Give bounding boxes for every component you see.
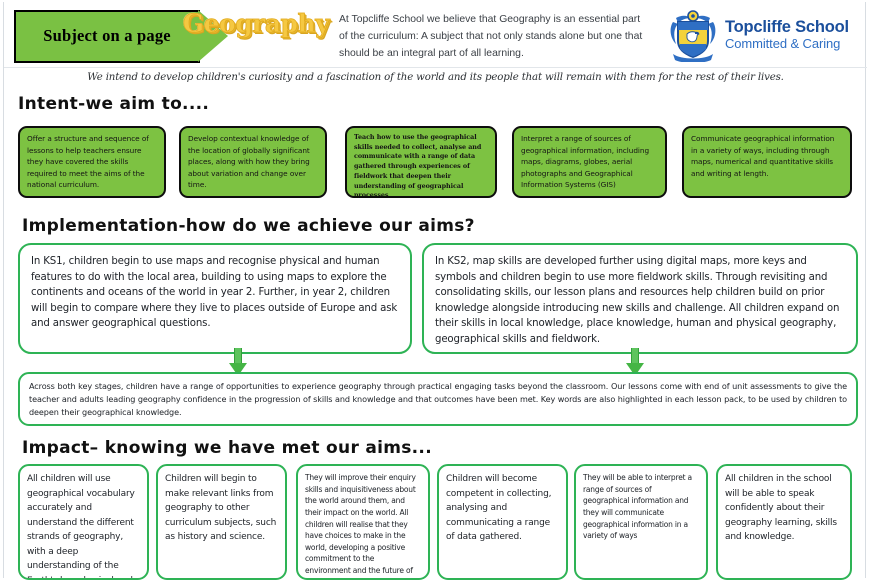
- impact-box-text: All children will use geographical vocab…: [27, 472, 140, 580]
- impact-box: Children will become competent in collec…: [437, 464, 568, 580]
- intent-box: Teach how to use the geographical skills…: [345, 126, 497, 198]
- arrow-stem: [631, 348, 639, 364]
- intent-box: Develop contextual knowledge of the loca…: [179, 126, 327, 198]
- intent-box-row: Offer a structure and sequence of lesson…: [4, 126, 867, 200]
- intent-section-heading: Intent-we aim to....: [18, 94, 209, 114]
- subject-on-a-page-banner: Subject on a page: [14, 10, 200, 63]
- intent-box-text: Develop contextual knowledge of the loca…: [188, 133, 318, 191]
- header-intro-text: At Topcliffe School we believe that Geog…: [339, 12, 649, 63]
- implementation-summary-text: Across both key stages, children have a …: [29, 380, 847, 419]
- impact-box: Children will begin to make relevant lin…: [156, 464, 287, 580]
- impact-box-text: All children in the school will be able …: [725, 472, 843, 545]
- header-divider: [4, 67, 867, 68]
- banner-label: Subject on a page: [39, 26, 175, 47]
- implementation-ks2-text: In KS2, map skills are developed further…: [435, 254, 845, 347]
- school-name: Topcliffe School: [725, 18, 849, 36]
- impact-box: All children in the school will be able …: [716, 464, 852, 580]
- intent-box-text: Interpret a range of sources of geograph…: [521, 133, 658, 191]
- school-tagline: Committed & Caring: [725, 37, 849, 51]
- intent-box: Offer a structure and sequence of lesson…: [18, 126, 166, 198]
- intent-box: Interpret a range of sources of geograph…: [512, 126, 667, 198]
- intent-box-text: Communicate geographical information in …: [691, 133, 843, 179]
- poster-header: Subject on a page Geography At Topcliffe…: [4, 2, 867, 68]
- subject-on-a-page-poster: Subject on a page Geography At Topcliffe…: [0, 0, 871, 580]
- impact-box: They will improve their enquiry skills a…: [296, 464, 430, 580]
- subject-title-wordart: Geography: [182, 11, 330, 36]
- impact-box: They will be able to interpret a range o…: [574, 464, 708, 580]
- impact-section-heading: Impact– knowing we have met our aims...: [22, 438, 432, 458]
- school-logo: Topcliffe School Committed & Caring: [667, 8, 849, 62]
- impact-box-text: Children will begin to make relevant lin…: [165, 472, 278, 545]
- intent-statement: We intend to develop children's curiosit…: [4, 72, 867, 83]
- intent-box-text: Teach how to use the geographical skills…: [354, 133, 488, 198]
- implementation-summary-box: Across both key stages, children have a …: [18, 372, 858, 426]
- poster-sheet: Subject on a page Geography At Topcliffe…: [3, 2, 866, 578]
- arrow-stem: [234, 348, 242, 364]
- impact-box-text: Children will become competent in collec…: [446, 472, 559, 545]
- school-crest-icon: [667, 8, 719, 62]
- intent-box: Communicate geographical information in …: [682, 126, 852, 198]
- school-logo-text: Topcliffe School Committed & Caring: [725, 18, 849, 51]
- implementation-ks2-box: In KS2, map skills are developed further…: [422, 243, 858, 354]
- impact-box: All children will use geographical vocab…: [18, 464, 149, 580]
- impact-box-text: They will improve their enquiry skills a…: [305, 472, 421, 580]
- intent-box-text: Offer a structure and sequence of lesson…: [27, 133, 157, 191]
- implementation-section-heading: Implementation-how do we achieve our aim…: [22, 216, 475, 236]
- implementation-ks1-box: In KS1, children begin to use maps and r…: [18, 243, 412, 354]
- impact-box-text: They will be able to interpret a range o…: [583, 472, 699, 542]
- implementation-ks1-text: In KS1, children begin to use maps and r…: [31, 254, 399, 332]
